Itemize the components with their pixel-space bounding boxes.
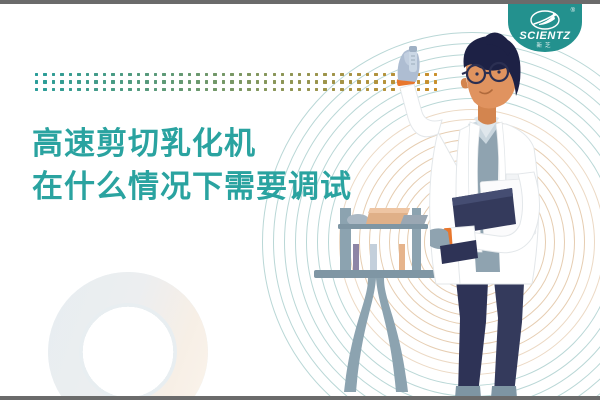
dot-grid-dot [239, 73, 242, 76]
dot-grid-dot [179, 88, 182, 91]
registered-trademark-icon: ® [571, 8, 575, 14]
dot-grid-dot [137, 88, 140, 91]
dot-grid-dot [188, 88, 191, 91]
dot-grid-dot [247, 80, 250, 83]
dot-grid-dot [239, 80, 242, 83]
dot-grid-dot [111, 73, 114, 76]
dot-grid-dot [162, 80, 165, 83]
dot-grid-dot [230, 80, 233, 83]
dot-grid-dot [120, 80, 123, 83]
dot-grid-dot [162, 73, 165, 76]
dot-grid-dot [145, 73, 148, 76]
dot-grid-dot [86, 80, 89, 83]
dot-grid-dot [273, 80, 276, 83]
dot-grid-dot [52, 80, 55, 83]
dot-grid-dot [196, 80, 199, 83]
dot-grid-dot [145, 88, 148, 91]
dot-grid-dot [35, 73, 38, 76]
dot-grid-dot [256, 73, 259, 76]
dot-grid-dot [239, 88, 242, 91]
dot-grid-dot [60, 88, 63, 91]
dot-grid-dot [273, 88, 276, 91]
lab-table [314, 208, 436, 392]
dot-grid-dot [171, 73, 174, 76]
dot-grid-dot [264, 80, 267, 83]
dot-grid-dot [205, 73, 208, 76]
dot-grid-dot [264, 88, 267, 91]
dot-grid-dot [222, 88, 225, 91]
dot-grid-dot [128, 73, 131, 76]
dot-grid-dot [103, 73, 106, 76]
dot-grid-dot [94, 80, 97, 83]
dot-grid-dot [52, 88, 55, 91]
dot-grid-dot [52, 73, 55, 76]
dot-grid-dot [256, 80, 259, 83]
dot-grid-dot [162, 88, 165, 91]
dot-grid-dot [213, 73, 216, 76]
dot-grid-dot [137, 80, 140, 83]
dot-grid-dot [290, 88, 293, 91]
dot-grid-dot [188, 73, 191, 76]
dot-grid-dot [35, 80, 38, 83]
dot-grid-dot [137, 73, 140, 76]
dot-grid-dot [273, 73, 276, 76]
dot-grid-dot [77, 88, 80, 91]
dot-grid-dot [43, 73, 46, 76]
dot-grid-dot [213, 80, 216, 83]
dot-grid-dot [256, 88, 259, 91]
dot-grid-dot [179, 80, 182, 83]
dot-grid-dot [196, 73, 199, 76]
dot-grid-dot [43, 80, 46, 83]
dot-grid-dot [103, 80, 106, 83]
dot-grid-dot [290, 80, 293, 83]
headline-line-1: 高速剪切乳化机 [32, 126, 256, 161]
dot-grid-dot [111, 80, 114, 83]
dot-grid-dot [222, 73, 225, 76]
dot-grid-dot [171, 88, 174, 91]
dot-grid-dot [290, 73, 293, 76]
scientist-illustration [300, 22, 600, 400]
dot-grid-dot [213, 88, 216, 91]
dot-grid-dot [128, 80, 131, 83]
dot-grid-dot [145, 80, 148, 83]
dot-grid-dot [205, 88, 208, 91]
donut-ring-decoration [48, 272, 208, 400]
promotional-banner: 高速剪切乳化机 在什么情况下需要调试 ® SCIENTZ 新芝 [0, 0, 600, 400]
dot-grid-dot [94, 73, 97, 76]
dot-grid-dot [247, 88, 250, 91]
dot-grid-dot [188, 80, 191, 83]
dot-grid-dot [179, 73, 182, 76]
dot-grid-dot [43, 88, 46, 91]
dot-grid-dot [111, 88, 114, 91]
dot-grid-dot [196, 88, 199, 91]
dot-grid-dot [94, 88, 97, 91]
dot-grid-dot [281, 88, 284, 91]
dot-grid-dot [281, 80, 284, 83]
dot-grid-dot [264, 73, 267, 76]
dot-grid-dot [69, 80, 72, 83]
dot-grid-dot [86, 88, 89, 91]
dot-grid-dot [120, 88, 123, 91]
dot-grid-dot [120, 73, 123, 76]
dot-grid-dot [171, 80, 174, 83]
dot-grid-dot [230, 73, 233, 76]
dot-grid-dot [35, 88, 38, 91]
dot-grid-dot [128, 88, 131, 91]
dot-grid-dot [60, 80, 63, 83]
dot-grid-dot [154, 80, 157, 83]
dot-grid-dot [77, 73, 80, 76]
dot-grid-dot [60, 73, 63, 76]
dot-grid-dot [154, 88, 157, 91]
dot-grid-dot [69, 88, 72, 91]
dot-grid-dot [205, 80, 208, 83]
dot-grid-dot [281, 73, 284, 76]
dot-grid-dot [103, 88, 106, 91]
dot-grid-dot [222, 80, 225, 83]
dot-grid-dot [77, 80, 80, 83]
dot-grid-dot [69, 73, 72, 76]
dot-grid-dot [247, 73, 250, 76]
dot-grid-dot [230, 88, 233, 91]
dot-grid-dot [86, 73, 89, 76]
dot-grid-dot [154, 73, 157, 76]
